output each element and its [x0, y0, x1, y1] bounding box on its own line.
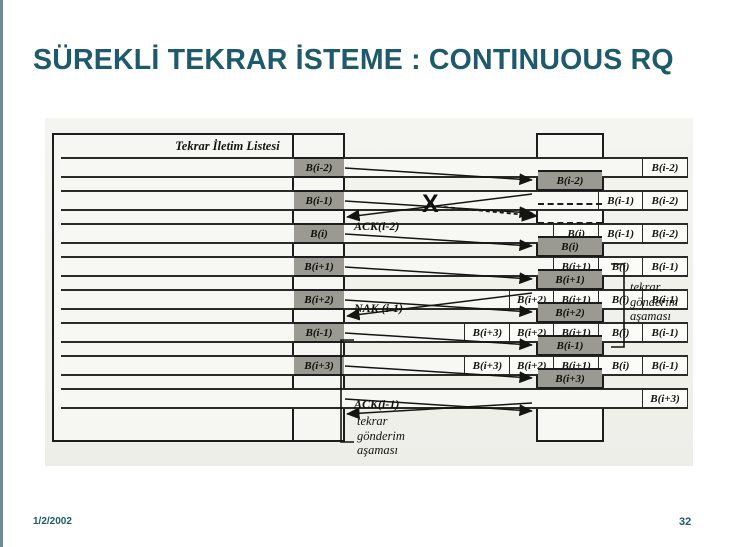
- footer-page-number: 32: [679, 516, 691, 528]
- phase-caption-line: aşaması: [630, 309, 678, 324]
- footer-date: 1/2/2002: [33, 516, 72, 527]
- phase-caption-line: aşaması: [357, 443, 405, 458]
- ack-i2-label: ACK(i-2): [354, 219, 399, 234]
- nak-i1-label: NAK (i-1): [354, 301, 403, 316]
- phase-caption-line: gönderim: [357, 429, 405, 444]
- phase-caption-sender: tekrargönderimaşaması: [357, 414, 405, 458]
- phase-caption-line: gönderim: [630, 295, 678, 310]
- phase-caption-line: tekrar: [357, 414, 405, 429]
- page-left-edge: [0, 0, 3, 547]
- continuous-rq-diagram: Tekrar İletim Listesi B(i-2)B(i-1)B(i-2)…: [45, 118, 693, 466]
- ack-i1-label: ACK(i-1): [354, 397, 399, 412]
- page-title: SÜREKLİ TEKRAR İSTEME : CONTINUOUS RQ: [33, 44, 713, 77]
- lost-frame-x-marker: X: [422, 192, 439, 217]
- phase-caption-receiver: tekrargönderimaşaması: [630, 280, 678, 324]
- phase-caption-line: tekrar: [630, 280, 678, 295]
